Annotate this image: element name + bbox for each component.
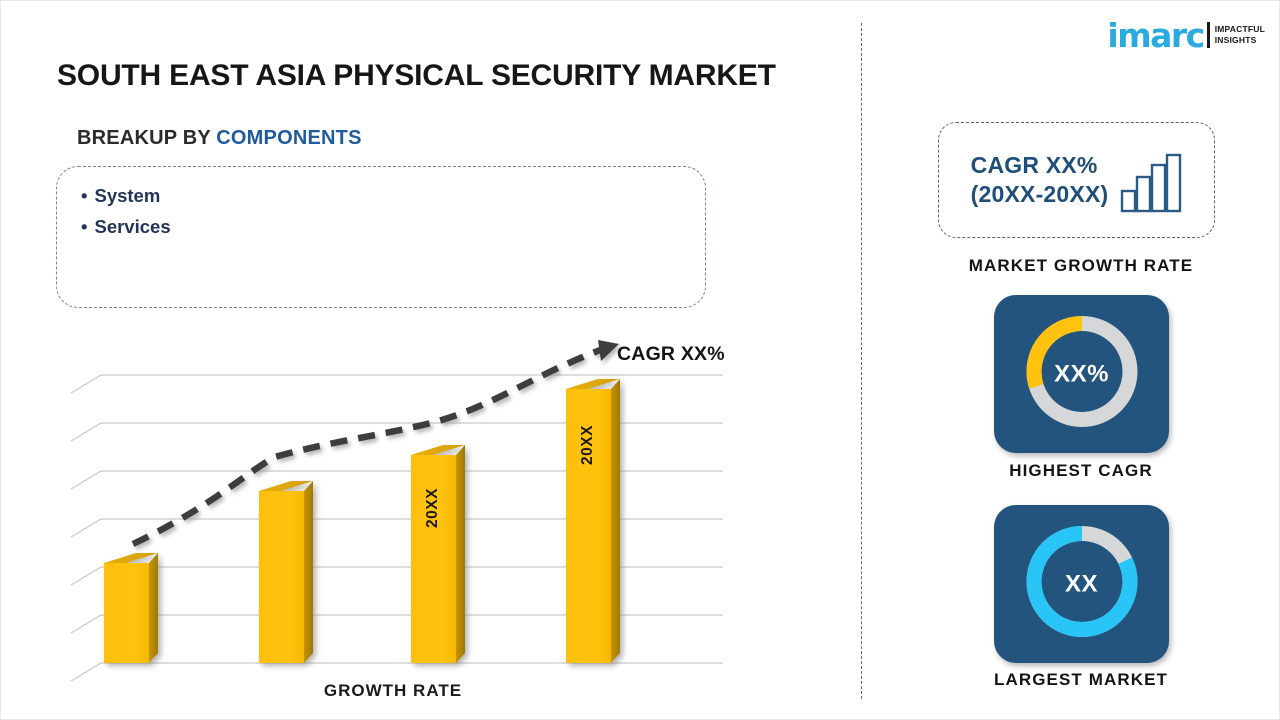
bar-label-4: 20XX bbox=[579, 420, 597, 470]
panel-divider bbox=[861, 23, 862, 699]
bar-label-3: 20XX bbox=[424, 483, 442, 533]
infographic-page: imarc IMPACTFUL INSIGHTS SOUTH EAST ASIA… bbox=[0, 0, 1280, 720]
market-growth-rate-card: CAGR XX% (20XX-20XX) bbox=[938, 122, 1215, 238]
chart-cagr-label: CAGR XX% bbox=[617, 343, 725, 366]
list-item: •System bbox=[81, 181, 705, 212]
page-title: SOUTH EAST ASIA PHYSICAL SECURITY MARKET bbox=[57, 59, 776, 93]
breakup-heading-lead: BREAKUP BY bbox=[77, 127, 211, 149]
donut-largest-market: XX bbox=[1020, 520, 1144, 649]
list-item-label: Services bbox=[94, 216, 170, 237]
bar-chart-icon bbox=[1120, 153, 1182, 213]
donut-highest-cagr: XX% bbox=[1020, 310, 1144, 439]
chart-axis-title: GROWTH RATE bbox=[63, 681, 723, 701]
largest-market-tile: XX bbox=[994, 505, 1169, 663]
bullet-icon: • bbox=[81, 212, 87, 243]
bar-1 bbox=[104, 553, 158, 663]
chart-svg bbox=[63, 331, 763, 681]
donut-center-label: XX bbox=[1020, 520, 1144, 649]
bar-2 bbox=[259, 481, 313, 663]
list-item-label: System bbox=[94, 185, 160, 206]
donut-center-label: XX% bbox=[1020, 310, 1144, 439]
breakup-heading: BREAKUP BY COMPONENTS bbox=[77, 127, 362, 150]
list-item: •Services bbox=[81, 212, 705, 243]
bar-3 bbox=[411, 445, 465, 663]
cagr-value-text: CAGR XX% (20XX-20XX) bbox=[971, 151, 1109, 209]
growth-rate-bar-chart: 20XX 20XX CAGR XX% GROWTH RATE bbox=[63, 331, 763, 706]
caption-highest-cagr: HIGHEST CAGR bbox=[881, 461, 1280, 481]
components-list-box: •System •Services bbox=[56, 166, 706, 308]
trend-arrow-icon bbox=[598, 340, 619, 361]
caption-market-growth-rate: MARKET GROWTH RATE bbox=[881, 256, 1280, 276]
bullet-icon: • bbox=[81, 181, 87, 212]
cagr-line-2: (20XX-20XX) bbox=[971, 180, 1109, 209]
highest-cagr-tile: XX% bbox=[994, 295, 1169, 453]
caption-largest-market: LARGEST MARKET bbox=[881, 670, 1280, 690]
metrics-panel: CAGR XX% (20XX-20XX) MARKET GROWTH RATE bbox=[881, 1, 1280, 720]
cagr-line-1: CAGR XX% bbox=[971, 151, 1109, 180]
breakup-heading-accent: COMPONENTS bbox=[216, 127, 361, 149]
trend-line bbox=[133, 340, 619, 544]
